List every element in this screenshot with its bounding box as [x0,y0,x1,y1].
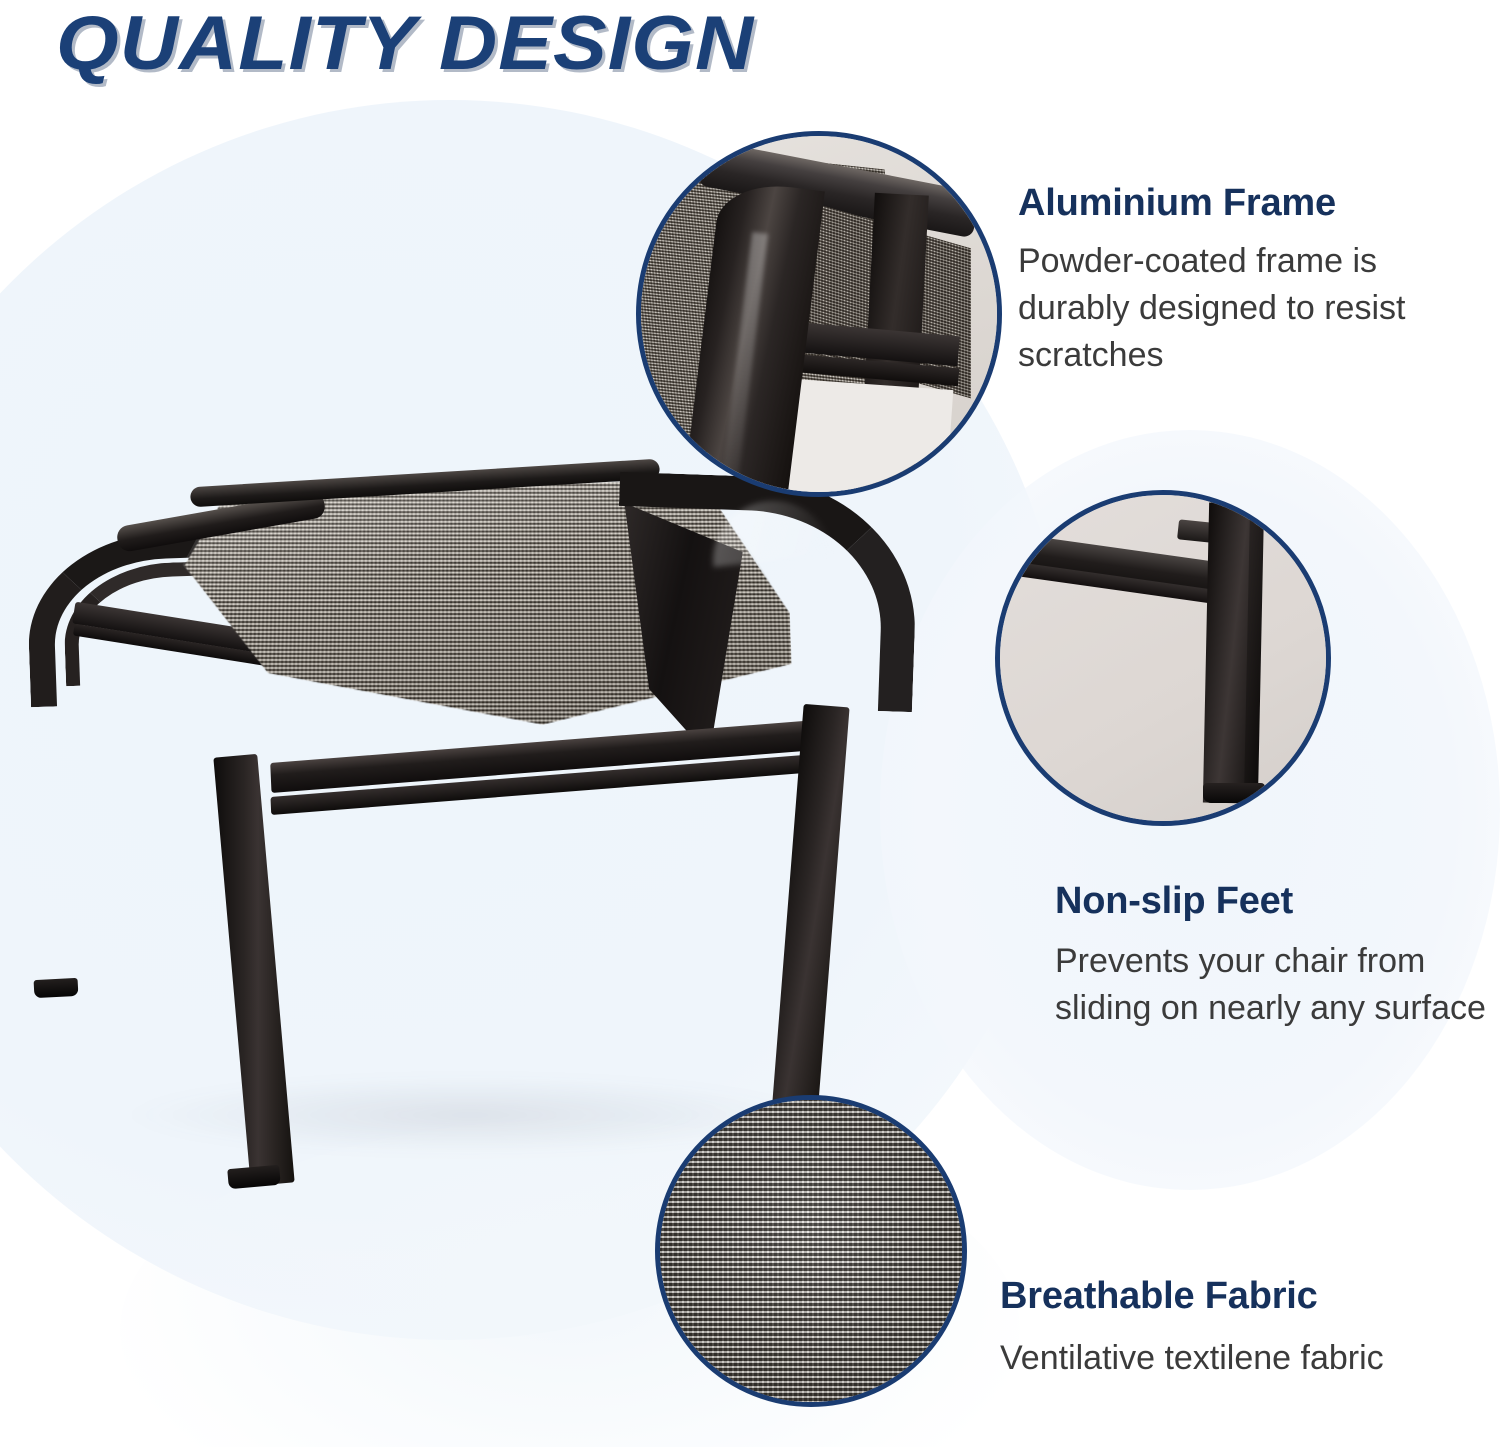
feet-closeup-foot-cap [1203,783,1265,803]
leg-front-left [213,754,294,1186]
fabric-closeup-shading [660,1100,962,1402]
frame-closeup-backdrop-panel [775,378,954,497]
leg-back-right [443,755,478,916]
callout-circle-aluminium-frame [636,131,1002,497]
infographic-canvas: QUALITY DESIGN Alumi [0,0,1500,1447]
foot-front-left [227,1165,281,1189]
callout-circle-non-slip-feet [995,490,1331,826]
callout-circle-breathable-fabric [655,1095,967,1407]
feature-heading-non-slip-feet: Non-slip Feet [1055,880,1293,923]
feature-body-aluminium-frame: Powder-coated frame is durably designed … [1018,238,1486,379]
page-title: QUALITY DESIGN [56,0,754,92]
feature-heading-aluminium-frame: Aluminium Frame [1018,182,1336,225]
feature-body-breathable-fabric: Ventilative textilene fabric [1000,1335,1500,1382]
feature-body-non-slip-feet: Prevents your chair from sliding on near… [1055,938,1500,1032]
foot-back-left [34,978,79,998]
feature-heading-breathable-fabric: Breathable Fabric [1000,1275,1318,1318]
